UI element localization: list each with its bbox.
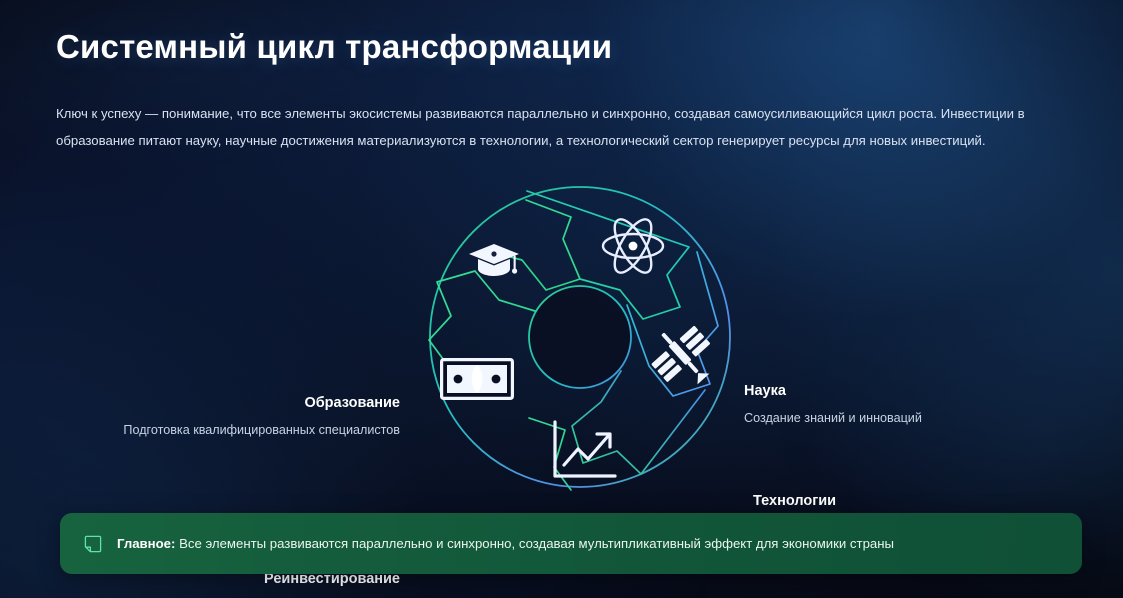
key-takeaway-body: Все элементы развиваются параллельно и с… xyxy=(179,536,894,551)
cycle-diagram: Образование Подготовка квалифицированных… xyxy=(0,178,1123,496)
key-takeaway-banner: Главное: Все элементы развиваются паралл… xyxy=(60,513,1082,574)
cycle-label-education-subtitle: Подготовка квалифицированных специалисто… xyxy=(14,421,400,439)
slide-content: Системный цикл трансформации Ключ к успе… xyxy=(0,0,1123,598)
cycle-label-science-title: Наука xyxy=(744,382,922,400)
page-title: Системный цикл трансформации xyxy=(56,28,612,66)
cycle-label-education-title: Образование xyxy=(14,394,400,412)
cycle-label-technology-title: Технологии xyxy=(753,492,945,510)
cycle-label-education: Образование Подготовка квалифицированных… xyxy=(14,394,400,439)
atom-icon xyxy=(600,213,666,279)
cycle-label-reinvestment: Реинвестирование Финансирование новых ци… xyxy=(14,570,400,598)
line-chart-up-icon xyxy=(549,418,621,484)
intro-paragraph: Ключ к успеху — понимание, что все элеме… xyxy=(56,100,1066,154)
cycle-label-science: Наука Создание знаний и инноваций xyxy=(744,382,922,427)
cycle-label-science-subtitle: Создание знаний и инноваций xyxy=(744,409,922,427)
graduation-cap-icon xyxy=(466,238,522,280)
banknote-icon xyxy=(440,358,514,400)
sticky-note-icon xyxy=(84,535,102,553)
key-takeaway-text: Главное: Все элементы развиваются паралл… xyxy=(117,535,894,553)
satellite-icon xyxy=(645,318,715,388)
key-takeaway-label: Главное: xyxy=(117,536,175,551)
